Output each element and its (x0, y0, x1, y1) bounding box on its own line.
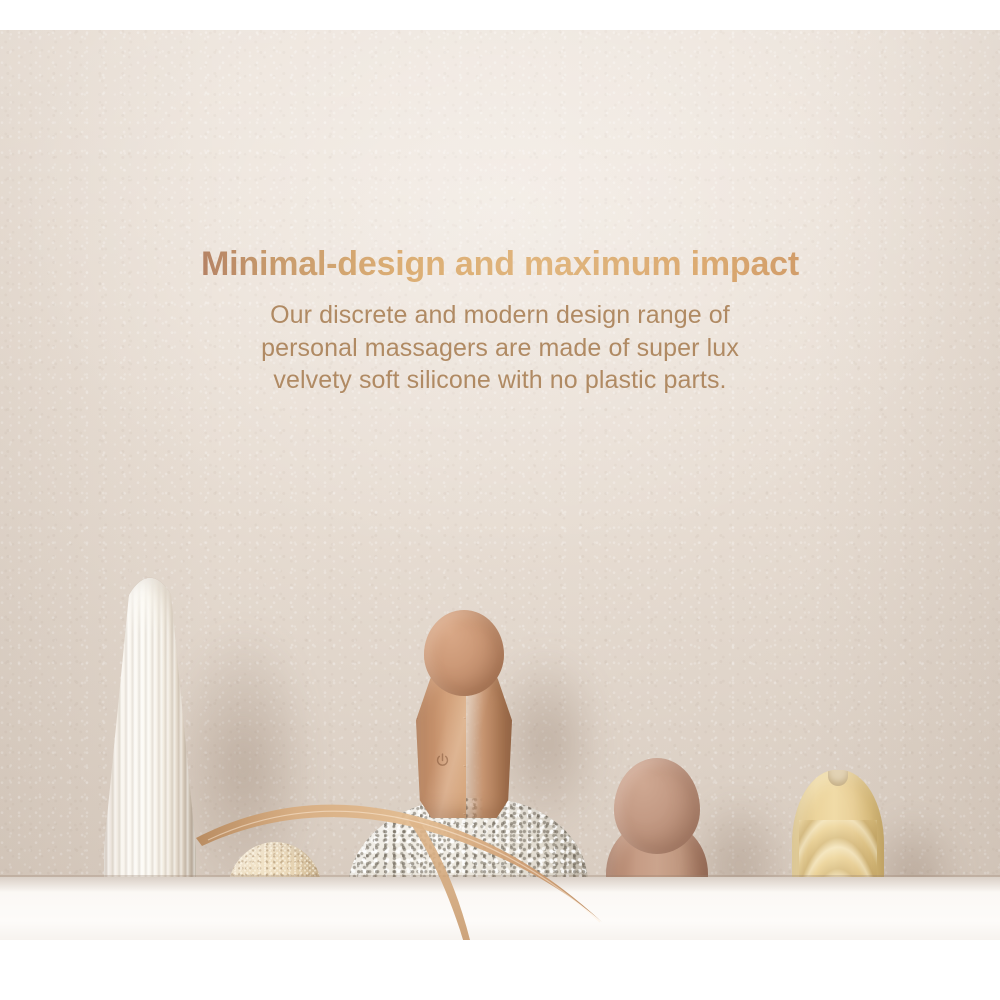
body-line-1: Our discrete and modern design range of (0, 299, 1000, 332)
body-line-2: personal massagers are made of super lux (0, 332, 1000, 365)
power-button-icon (434, 752, 451, 769)
pebble-massager-head (614, 758, 700, 854)
copy-block: Minimal-design and maximum impact Our di… (0, 245, 1000, 397)
body-copy: Our discrete and modern design range of … (0, 299, 1000, 397)
table-surface (0, 877, 1000, 940)
product-photo: Minimal-design and maximum impact Our di… (0, 30, 1000, 940)
body-line-3: velvety soft silicone with no plastic pa… (0, 364, 1000, 397)
faceted-massager-head (424, 610, 504, 696)
page-title: Minimal-design and maximum impact (0, 245, 1000, 283)
tulip-notch (828, 770, 848, 786)
promo-banner: Minimal-design and maximum impact Our di… (0, 0, 1000, 1000)
